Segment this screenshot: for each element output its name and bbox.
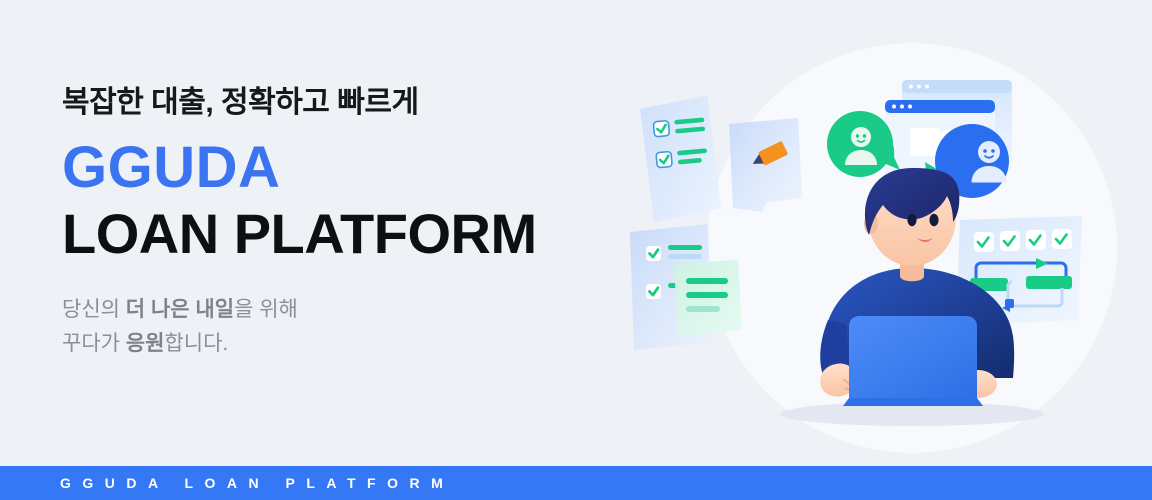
laptop	[843, 316, 983, 406]
tagline-1-pre: 당신의	[62, 298, 126, 321]
tagline-2-pre: 꾸다가	[62, 332, 126, 355]
ribbon-label: GGUDA LOAN PLATFORM	[0, 475, 454, 491]
checklist-card-top-left	[639, 95, 721, 223]
tagline-2-strong: 응원	[126, 332, 165, 355]
tagline-1-post: 을 위해	[234, 298, 298, 321]
hero-product-title: LOAN PLATFORM	[62, 205, 622, 264]
tagline-line-2: 꾸다가 응원합니다.	[62, 332, 228, 355]
green-note-card	[674, 260, 742, 336]
tagline-1-strong: 더 나은 내일	[126, 298, 234, 321]
hero-eyebrow: 복잡한 대출, 정확하고 빠르게	[62, 84, 622, 122]
hero-copy-block: 복잡한 대출, 정확하고 빠르게 GGUDA LOAN PLATFORM 당신의…	[62, 84, 622, 361]
user-smile-icon-head-green	[851, 127, 871, 147]
hero-brand-title: GGUDA	[62, 138, 622, 197]
tagline-2-post: 합니다.	[164, 332, 228, 355]
user-smile-icon-head-blue	[978, 141, 1000, 163]
hero-banner: 복잡한 대출, 정확하고 빠르게 GGUDA LOAN PLATFORM 당신의…	[0, 0, 1152, 500]
bottom-ribbon: GGUDA LOAN PLATFORM	[0, 466, 1152, 500]
pencil-note-card	[729, 118, 802, 212]
tagline-line-1: 당신의 더 나은 내일을 위해	[62, 298, 298, 321]
hero-tagline: 당신의 더 나은 내일을 위해 꾸다가 응원합니다.	[62, 293, 622, 361]
hero-illustration	[612, 20, 1152, 466]
